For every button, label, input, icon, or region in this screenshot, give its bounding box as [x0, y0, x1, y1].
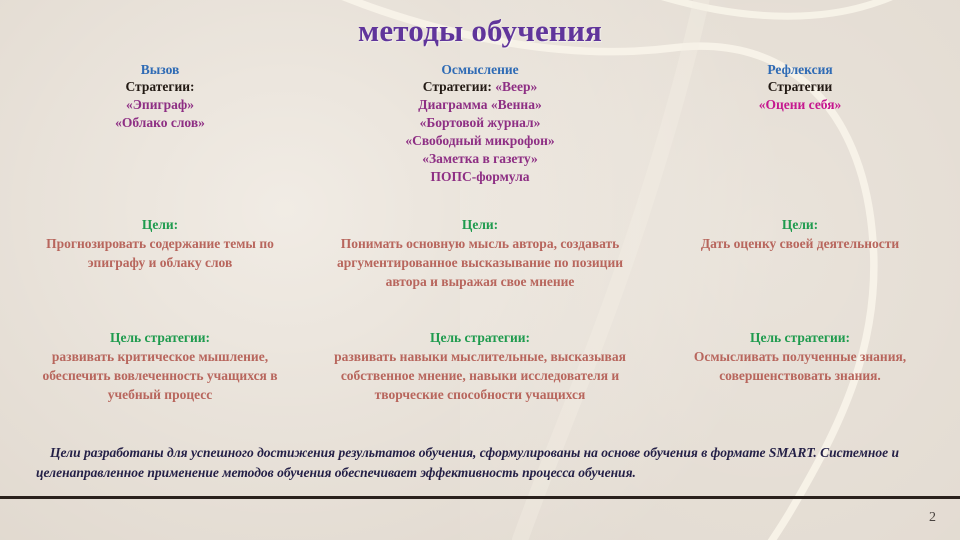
goals-text: Прогнозировать содержание темы по эпигра…: [18, 234, 302, 272]
column-comprehension-goals: Цели: Понимать основную мысль автора, со…: [320, 216, 640, 291]
strategies-label-reflection: Стратегии: [658, 78, 942, 96]
phase-label-comprehension: Осмысление: [326, 61, 634, 78]
strategies-label-challenge: Стратегии:: [18, 78, 302, 96]
strategies-row: Вызов Стратегии: «Эпиграф» «Облако слов»…: [0, 61, 960, 186]
column-challenge-goals: Цели: Прогнозировать содержание темы по …: [0, 216, 320, 291]
goals-label: Цели:: [658, 216, 942, 234]
column-challenge-strategy-goal: Цель стратегии: развивать критическое мы…: [0, 329, 320, 404]
column-comprehension-strategy-goal: Цель стратегии: развивать навыки мыслите…: [320, 329, 640, 404]
strategy-item: «Эпиграф»: [18, 96, 302, 114]
column-reflection-strategies: Рефлексия Стратегии «Оцени себя»: [640, 61, 960, 186]
strategies-label-text: Стратегии:: [423, 79, 492, 94]
strategies-label-comprehension: Стратегии: «Веер»: [326, 78, 634, 96]
footer-note: Цели разработаны для успешного достижени…: [36, 443, 922, 482]
footer-divider: [0, 496, 960, 499]
strategy-item: «Заметка в газету»: [326, 150, 634, 168]
goals-text: Понимать основную мысль автора, создават…: [326, 234, 634, 291]
strategy-item: Диаграмма «Венна»: [326, 96, 634, 114]
strategy-goal-row: Цель стратегии: развивать критическое мы…: [0, 329, 960, 404]
strategy-goal-label: Цель стратегии:: [326, 329, 634, 347]
strategy-goal-label: Цель стратегии:: [658, 329, 942, 347]
strategy-goal-label: Цель стратегии:: [18, 329, 302, 347]
strategy-item: «Свободный микрофон»: [326, 132, 634, 150]
strategy-item: ПОПС-формула: [326, 168, 634, 186]
presentation-slide: методы обучения Вызов Стратегии: «Эпигра…: [0, 0, 960, 540]
column-challenge-strategies: Вызов Стратегии: «Эпиграф» «Облако слов»: [0, 61, 320, 186]
strategy-goal-text: Осмысливать полученные знания, совершенс…: [658, 347, 942, 385]
goals-label: Цели:: [18, 216, 302, 234]
goals-row: Цели: Прогнозировать содержание темы по …: [0, 216, 960, 291]
strategy-item: «Бортовой журнал»: [326, 114, 634, 132]
phase-label-reflection: Рефлексия: [658, 61, 942, 78]
phase-label-challenge: Вызов: [18, 61, 302, 78]
goals-text: Дать оценку своей деятельности: [658, 234, 942, 253]
column-reflection-strategy-goal: Цель стратегии: Осмысливать полученные з…: [640, 329, 960, 404]
page-title: методы обучения: [0, 13, 960, 49]
strategy-item-inline: «Веер»: [495, 79, 537, 94]
goals-label: Цели:: [326, 216, 634, 234]
column-reflection-goals: Цели: Дать оценку своей деятельности: [640, 216, 960, 291]
page-number: 2: [929, 510, 936, 526]
strategy-item: «Оцени себя»: [658, 96, 942, 114]
column-comprehension-strategies: Осмысление Стратегии: «Веер» Диаграмма «…: [320, 61, 640, 186]
strategy-item: «Облако слов»: [18, 114, 302, 132]
strategy-goal-text: развивать критическое мышление, обеспечи…: [18, 347, 302, 404]
strategy-goal-text: развивать навыки мыслительные, высказыва…: [326, 347, 634, 404]
